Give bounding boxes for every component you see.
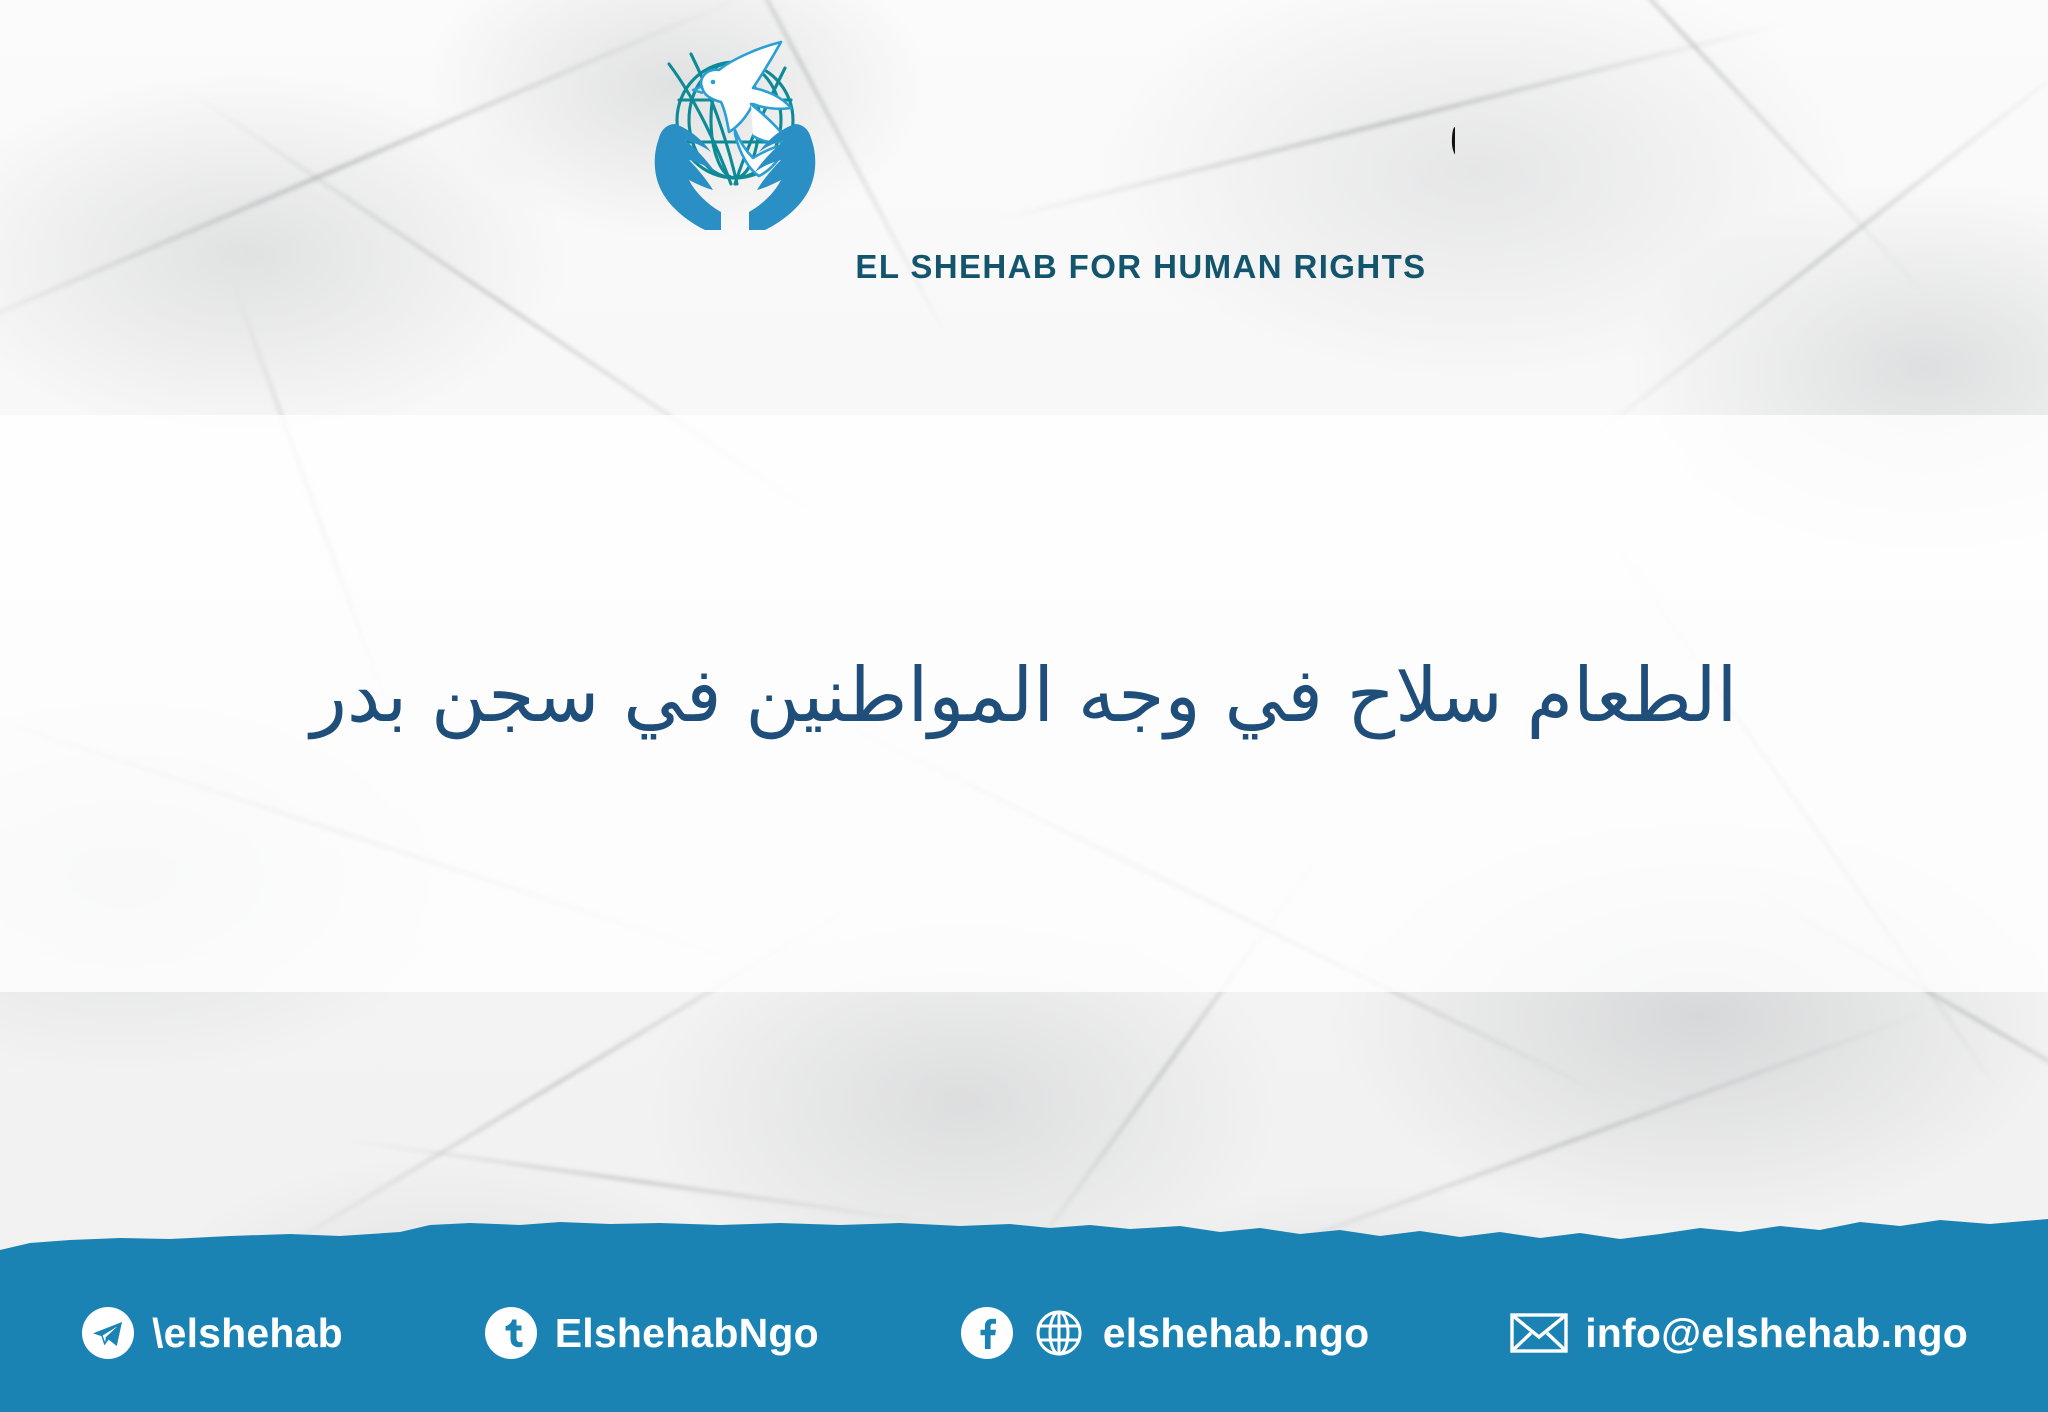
headline-text: الطعام سلاح في وجه المواطنين في سجن بدر — [311, 641, 1738, 750]
header: الشهاب لحقوق الإنسان EL SHEHAB FOR HUMAN… — [0, 0, 2048, 300]
footer-contacts: \elshehab ElshehabNgo — [0, 1262, 2048, 1412]
headline-container: الطعام سلاح في وجه المواطنين في سجن بدر — [0, 600, 2048, 790]
arabic-calligraphy-wordmark: الشهاب لحقوق الإنسان — [835, 44, 1455, 194]
contact-telegram-label: \elshehab — [152, 1310, 343, 1357]
contact-email[interactable]: info@elshehab.ngo — [1509, 1309, 1968, 1357]
facebook-icon — [959, 1305, 1015, 1361]
contact-telegram[interactable]: \elshehab — [80, 1305, 343, 1361]
dove-globe-hands-icon — [635, 34, 835, 234]
globe-icon — [1031, 1305, 1087, 1361]
poster-canvas: الشهاب لحقوق الإنسان EL SHEHAB FOR HUMAN… — [0, 0, 2048, 1412]
twitter-icon — [483, 1305, 539, 1361]
contact-email-label: info@elshehab.ngo — [1585, 1310, 1968, 1357]
contact-website[interactable]: elshehab.ngo — [959, 1305, 1370, 1361]
contact-twitter[interactable]: ElshehabNgo — [483, 1305, 819, 1361]
svg-text:الشهاب لحقوق الإنسان: الشهاب لحقوق الإنسان — [1445, 61, 1455, 174]
contact-website-label: elshehab.ngo — [1103, 1310, 1370, 1357]
organization-name-en: EL SHEHAB FOR HUMAN RIGHTS — [831, 248, 1451, 286]
footer: \elshehab ElshehabNgo — [0, 1262, 2048, 1412]
envelope-icon — [1509, 1309, 1569, 1357]
organization-logo: الشهاب لحقوق الإنسان EL SHEHAB FOR HUMAN… — [635, 20, 1455, 285]
telegram-icon — [80, 1305, 136, 1361]
contact-twitter-label: ElshehabNgo — [555, 1310, 819, 1357]
